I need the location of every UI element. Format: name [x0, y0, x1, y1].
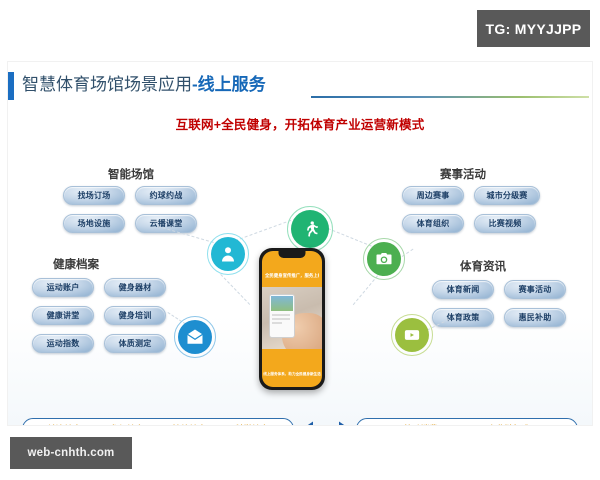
mail-icon[interactable] [178, 320, 212, 354]
mail-icon-ring [174, 316, 216, 358]
pill-news-2[interactable]: 赛事活动 [504, 280, 566, 299]
pill-venue-2[interactable]: 约球约战 [135, 186, 197, 205]
phone-notch [279, 251, 306, 258]
slide-canvas: 智慧体育场馆场景应用-线上服务 互联网+全民健身，开拓体育产业运营新模式 智能场… [8, 62, 592, 425]
pill-health-4[interactable]: 健身培训 [104, 306, 166, 325]
photo-device-line-1 [272, 314, 290, 316]
capsule-left-item-1: 关注健身 [47, 423, 81, 425]
phone-headline: 全民健身宣传推广，服务上线 [265, 273, 319, 279]
pill-news-1[interactable]: 体育新闻 [432, 280, 494, 299]
pill-event-4[interactable]: 比赛视频 [474, 214, 536, 233]
slide-subtitle: 互联网+全民健身，开拓体育产业运营新模式 [8, 114, 592, 133]
phone-photo [262, 287, 322, 349]
pill-event-1[interactable]: 周边赛事 [402, 186, 464, 205]
capsule-right-item-1: 拉动消费 [404, 423, 438, 425]
capsule-left-item-2: 参与健身 [110, 423, 144, 425]
phone-mockup: 全民健身宣传推广，服务上线 线上服务体系，助力全民健身新生活 [259, 248, 325, 390]
header-gradient-rule [311, 96, 589, 98]
pill-health-1[interactable]: 运动账户 [32, 278, 94, 297]
capsule-left-item-3: 持续健身 [172, 423, 206, 425]
running-icon-ring [287, 206, 333, 252]
photo-device-line-2 [272, 318, 290, 320]
person-icon-ring [207, 233, 249, 275]
group-title-health: 健康档案 [53, 256, 99, 272]
photo-device-line-3 [272, 322, 282, 324]
video-play-icon[interactable] [395, 318, 429, 352]
pill-venue-1[interactable]: 找场订场 [63, 186, 125, 205]
url-watermark-text: web-cnhth.com [28, 447, 115, 459]
camera-icon[interactable] [367, 242, 401, 276]
page-title-accent: -线上服务 [192, 75, 266, 94]
photo-device-image [271, 296, 293, 311]
pill-venue-4[interactable]: 云播课堂 [135, 214, 197, 233]
pill-news-3[interactable]: 体育政策 [432, 308, 494, 327]
pill-event-2[interactable]: 城市分级赛 [474, 186, 540, 205]
capsule-right-item-2: 产业链打造 [488, 423, 531, 425]
group-title-event: 赛事活动 [440, 166, 486, 182]
phone-footline: 线上服务体系，助力全民健身新生活 [262, 372, 322, 377]
pill-venue-3[interactable]: 场地设施 [63, 214, 125, 233]
tg-watermark-text: TG: MYYJJPP [486, 21, 582, 37]
url-watermark-badge: web-cnhth.com [10, 437, 132, 469]
page-title: 智慧体育场馆场景应用-线上服务 [22, 70, 266, 100]
running-icon[interactable] [291, 210, 329, 248]
connector-cam-phone [353, 275, 378, 305]
capsule-left-item-4: 科学健身 [235, 423, 269, 425]
group-title-venue: 智能场馆 [108, 166, 154, 182]
video-play-icon-ring [391, 314, 433, 356]
tg-watermark-badge: TG: MYYJJPP [477, 10, 590, 47]
pill-health-6[interactable]: 体质测定 [104, 334, 166, 353]
capsule-right[interactable]: 拉动消费 产业链打造 [356, 418, 578, 425]
pill-event-3[interactable]: 体育组织 [402, 214, 464, 233]
pill-health-3[interactable]: 健康讲堂 [32, 306, 94, 325]
photo-device [269, 294, 295, 338]
capsule-left[interactable]: 关注健身 参与健身 持续健身 科学健身 [22, 418, 294, 425]
pill-health-5[interactable]: 运动指数 [32, 334, 94, 353]
header-accent-bar [8, 72, 14, 100]
page-title-main: 智慧体育场馆场景应用 [22, 75, 192, 94]
camera-icon-ring [363, 238, 405, 280]
slide-header: 智慧体育场馆场景应用-线上服务 [8, 70, 592, 104]
pill-news-4[interactable]: 惠民补助 [504, 308, 566, 327]
phone-screen: 全民健身宣传推广，服务上线 线上服务体系，助力全民健身新生活 [262, 251, 322, 387]
pill-health-2[interactable]: 健身器材 [104, 278, 166, 297]
double-arrow-icon [302, 420, 350, 425]
person-icon[interactable] [211, 237, 245, 271]
connector-person-phone [220, 274, 250, 305]
group-title-news: 体育资讯 [460, 258, 506, 274]
